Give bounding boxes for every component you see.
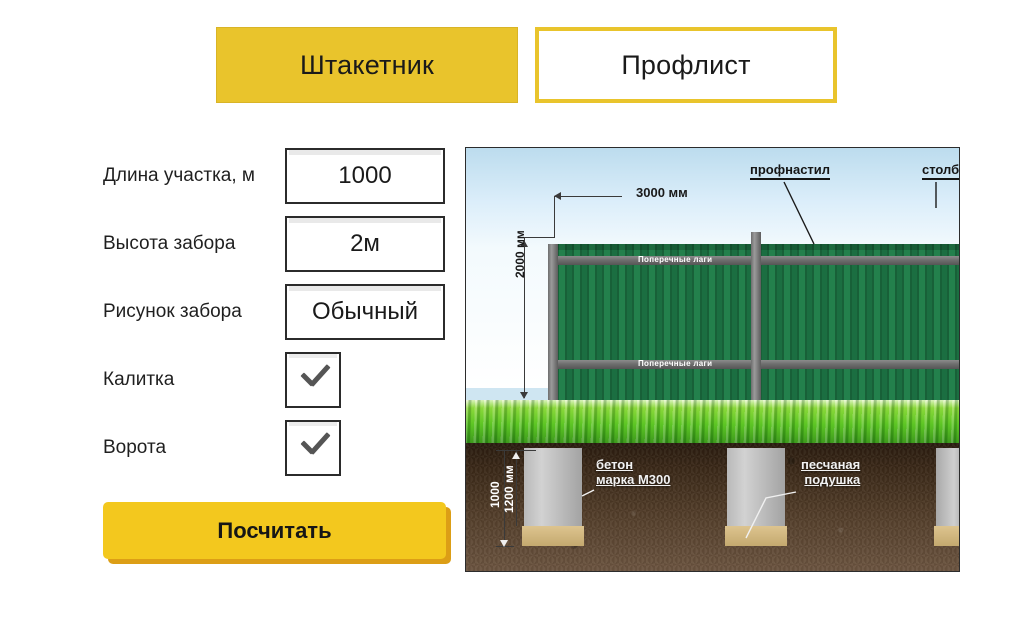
select-pattern[interactable]: Обычный (285, 284, 445, 340)
tab-shtaketnik-label: Штакетник (300, 50, 434, 81)
leader-lines-lower (466, 148, 959, 571)
input-length[interactable]: 1000 (285, 148, 445, 204)
fence-parameters-form: Длина участка, м 1000 Высота забора 2м Р… (103, 148, 448, 488)
form-row-length: Длина участка, м 1000 (103, 148, 448, 204)
checkbox-wicket[interactable] (285, 352, 341, 408)
form-row-height: Высота забора 2м (103, 216, 448, 272)
material-tabs: Штакетник Профлист (216, 27, 837, 103)
fence-diagram: Поперечные лаги Поперечные лаги 3000 мм … (465, 147, 960, 572)
calculate-button[interactable]: Посчитать (103, 502, 446, 559)
form-row-pattern: Рисунок забора Обычный (103, 284, 448, 340)
form-row-gate: Ворота (103, 420, 448, 476)
input-length-value: 1000 (338, 162, 391, 190)
calculator-page: Штакетник Профлист Длина участка, м 1000… (0, 0, 1012, 634)
label-height: Высота забора (103, 234, 285, 255)
submit-area: Посчитать (103, 502, 451, 564)
check-icon (300, 368, 330, 384)
label-length: Длина участка, м (103, 166, 285, 187)
form-row-wicket: Калитка (103, 352, 448, 408)
tab-shtaketnik[interactable]: Штакетник (216, 27, 518, 103)
select-height-value: 2м (350, 230, 380, 258)
select-pattern-value: Обычный (312, 298, 418, 326)
checkbox-gate[interactable] (285, 420, 341, 476)
label-pattern: Рисунок забора (103, 302, 285, 323)
check-icon (300, 436, 330, 452)
label-gate: Ворота (103, 438, 285, 459)
label-wicket: Калитка (103, 370, 285, 391)
select-height[interactable]: 2м (285, 216, 445, 272)
tab-proflist[interactable]: Профлист (535, 27, 837, 103)
tab-proflist-label: Профлист (621, 50, 750, 81)
